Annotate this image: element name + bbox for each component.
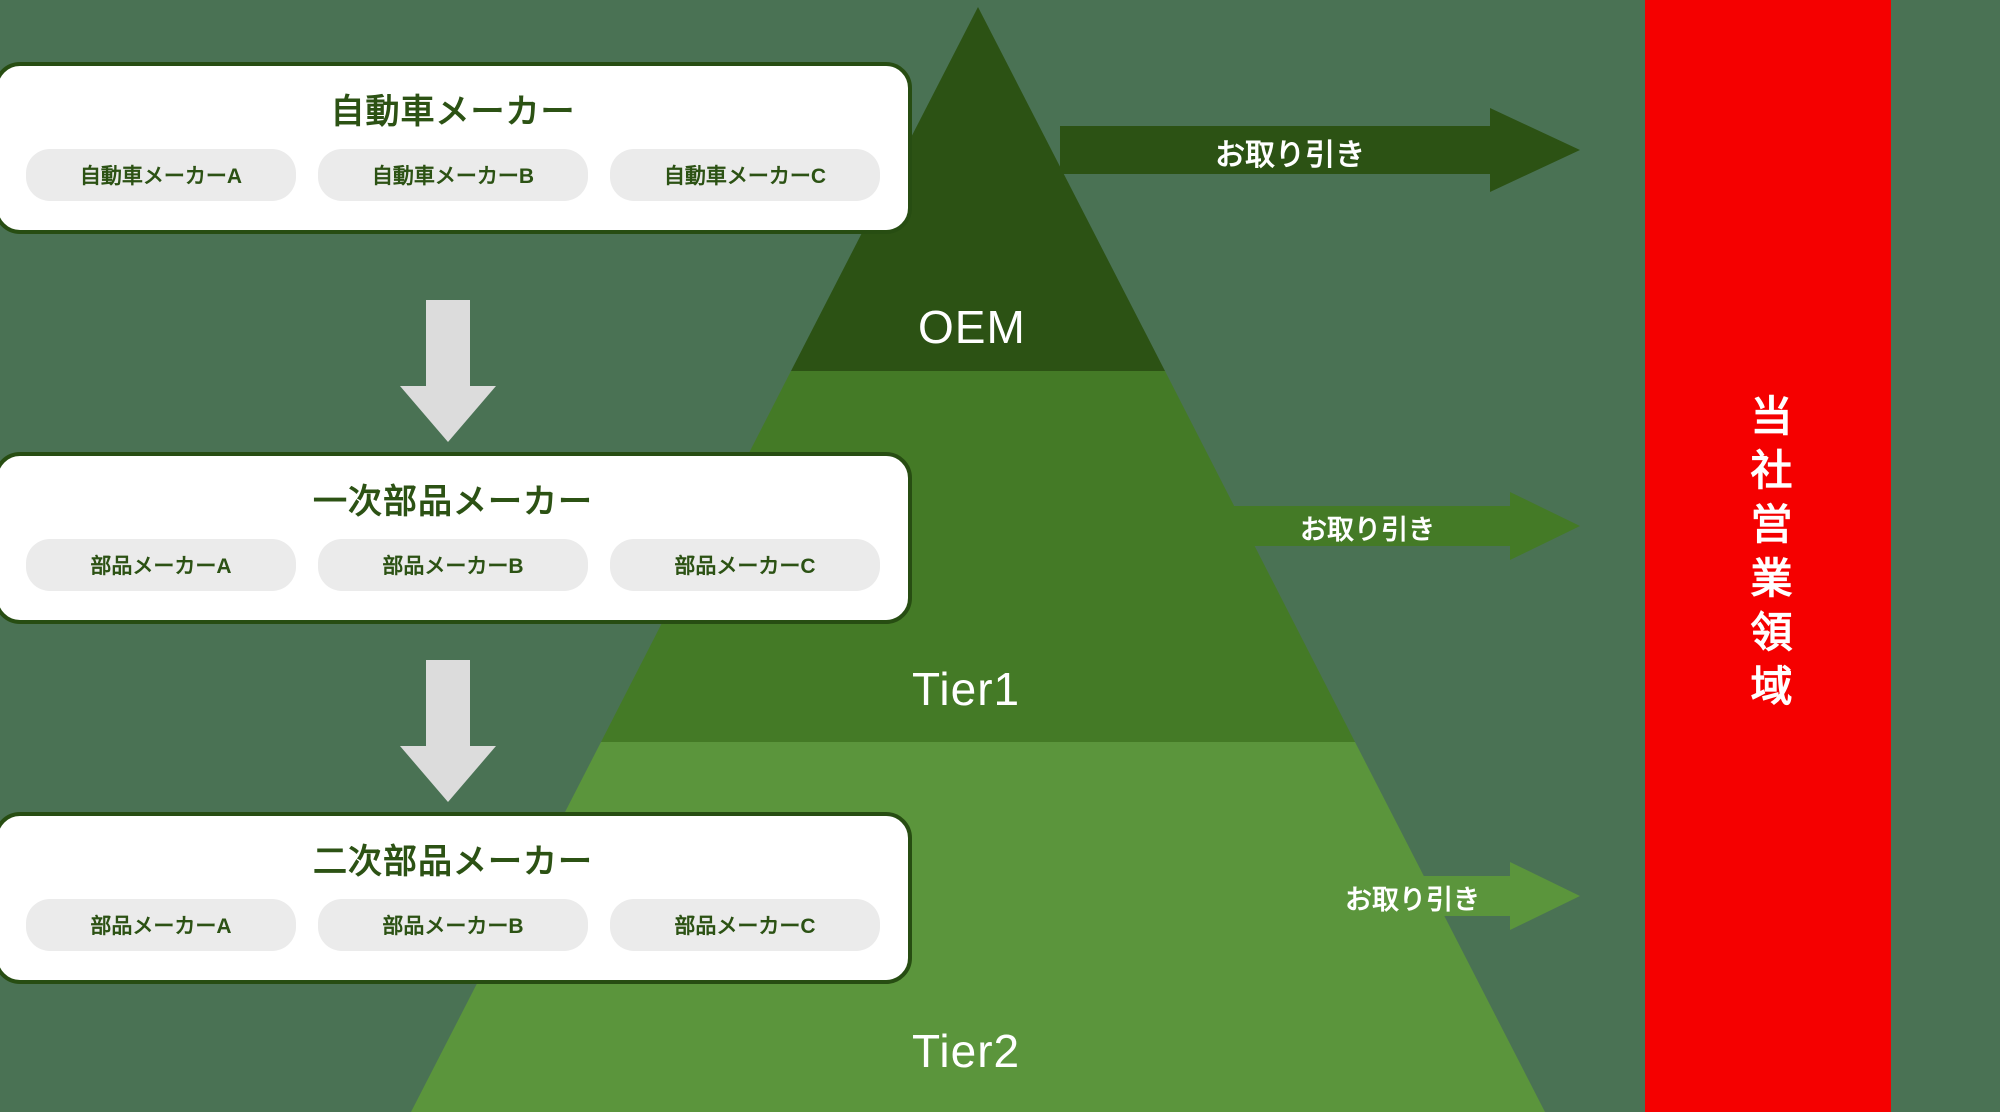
deal-arrow-label-oem: お取り引き [1215, 130, 1365, 174]
chip-tier1-parts-maker-b[interactable]: 部品メーカーB [318, 539, 588, 591]
card-title-tier1-parts-maker: 一次部品メーカー [0, 474, 908, 523]
card-tier2-parts-maker[interactable]: 二次部品メーカー 部品メーカーA 部品メーカーB 部品メーカーC [0, 812, 912, 984]
business-territory-panel: 当社営業領域 [1645, 0, 1891, 1112]
arrow-down-icon-oem-to-tier1 [400, 300, 496, 442]
tier-label-oem: OEM [918, 300, 1026, 354]
card-tier1-parts-maker[interactable]: 一次部品メーカー 部品メーカーA 部品メーカーB 部品メーカーC [0, 452, 912, 624]
chip-tier2-parts-maker-c[interactable]: 部品メーカーC [610, 899, 880, 951]
tier-label-tier2: Tier2 [912, 1024, 1020, 1078]
chip-automaker-b[interactable]: 自動車メーカーB [318, 149, 588, 201]
chip-row-automaker: 自動車メーカーA 自動車メーカーB 自動車メーカーC [0, 149, 908, 201]
deal-arrow-label-tier2: お取り引き [1345, 878, 1480, 917]
chip-row-tier1-parts-maker: 部品メーカーA 部品メーカーB 部品メーカーC [0, 539, 908, 591]
chip-tier2-parts-maker-a[interactable]: 部品メーカーA [26, 899, 296, 951]
diagram-canvas: お取り引き お取り引き お取り引き OEM Tier1 Tier2 自動車メーカ… [0, 0, 2000, 1112]
tier-label-tier1: Tier1 [912, 662, 1020, 716]
arrow-down-icon-tier1-to-tier2 [400, 660, 496, 802]
chip-tier1-parts-maker-c[interactable]: 部品メーカーC [610, 539, 880, 591]
chip-tier2-parts-maker-b[interactable]: 部品メーカーB [318, 899, 588, 951]
card-automaker[interactable]: 自動車メーカー 自動車メーカーA 自動車メーカーB 自動車メーカーC [0, 62, 912, 234]
chip-automaker-c[interactable]: 自動車メーカーC [610, 149, 880, 201]
chip-row-tier2-parts-maker: 部品メーカーA 部品メーカーB 部品メーカーC [0, 899, 908, 951]
chip-tier1-parts-maker-a[interactable]: 部品メーカーA [26, 539, 296, 591]
card-title-tier2-parts-maker: 二次部品メーカー [0, 834, 908, 883]
business-territory-label: 当社営業領域 [1747, 394, 1789, 718]
deal-arrow-label-tier1: お取り引き [1300, 508, 1435, 547]
card-title-automaker: 自動車メーカー [0, 84, 908, 133]
chip-automaker-a[interactable]: 自動車メーカーA [26, 149, 296, 201]
